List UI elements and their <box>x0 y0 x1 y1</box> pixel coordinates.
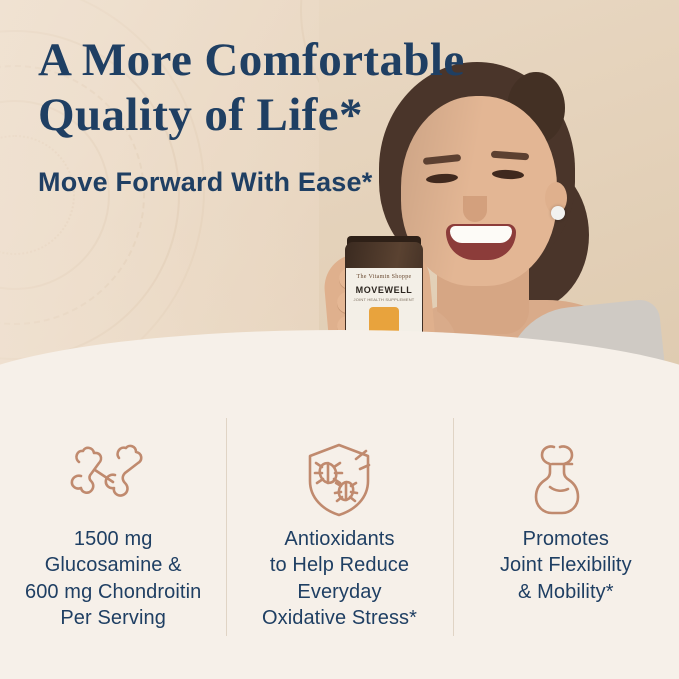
feature-line: Antioxidants <box>236 526 442 552</box>
feature-line: Oxidative Stress* <box>236 605 442 631</box>
subheadline: Move Forward With Ease* <box>38 167 558 198</box>
feature-glucosamine-text: 1500 mg Glucosamine & 600 mg Chondroitin… <box>10 526 216 632</box>
feature-line: Promotes <box>463 526 669 552</box>
antioxidant-shield-icon <box>236 434 442 526</box>
feature-line: & Mobility* <box>463 579 669 605</box>
bone-joint-icon <box>10 434 216 526</box>
feature-line: 1500 mg <box>10 526 216 552</box>
features-section: 1500 mg Glucosamine & 600 mg Chondroitin… <box>0 404 679 679</box>
feature-glucosamine: 1500 mg Glucosamine & 600 mg Chondroitin… <box>0 404 226 679</box>
feature-line: Joint Flexibility <box>463 552 669 578</box>
teeth <box>450 226 512 243</box>
feature-line: 600 mg Chondroitin <box>10 579 216 605</box>
promo-image: The Vitamin Shoppe MOVEWELL JOINT HEALTH… <box>0 0 679 679</box>
feature-antioxidants-text: Antioxidants to Help Reduce Everyday Oxi… <box>236 526 442 632</box>
feature-line: Glucosamine & <box>10 552 216 578</box>
nose <box>463 196 487 222</box>
headline-line-2: Quality of Life* <box>38 89 558 142</box>
headline-block: A More Comfortable Quality of Life* Move… <box>38 34 558 198</box>
earring <box>551 206 565 220</box>
knee-joint-icon <box>463 434 669 526</box>
feature-flexibility-text: Promotes Joint Flexibility & Mobility* <box>463 526 669 605</box>
feature-line: Everyday <box>236 579 442 605</box>
feature-line: Per Serving <box>10 605 216 631</box>
bottle-brand-text: The Vitamin Shoppe <box>346 274 422 280</box>
bottle-product-name: MOVEWELL <box>346 285 422 295</box>
feature-antioxidants: Antioxidants to Help Reduce Everyday Oxi… <box>226 404 452 679</box>
bottle-descriptor: JOINT HEALTH SUPPLEMENT <box>346 297 422 302</box>
headline-line-1: A More Comfortable <box>38 34 558 87</box>
feature-flexibility: Promotes Joint Flexibility & Mobility* <box>453 404 679 679</box>
feature-line: to Help Reduce <box>236 552 442 578</box>
